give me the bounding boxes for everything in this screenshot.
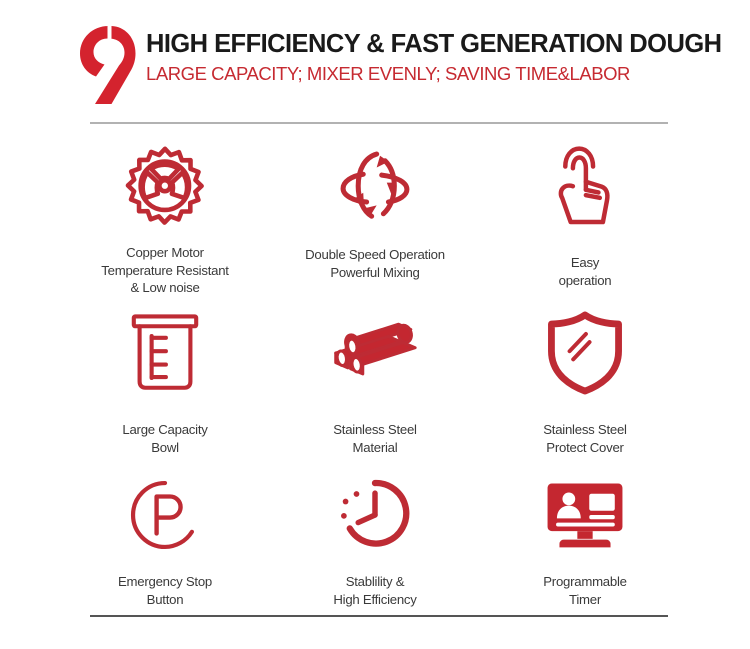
- feature-caption: Copper Motor Temperature Resistant & Low…: [101, 244, 228, 297]
- steel-tubes-icon: [327, 309, 423, 397]
- feature-caption: Stablility & High Efficiency: [333, 573, 416, 608]
- divider-bottom: [90, 615, 668, 617]
- feature-item-stability-efficiency: Stablility & High Efficiency: [270, 468, 480, 608]
- feature-item-emergency-stop: Emergency Stop Button: [60, 468, 270, 608]
- feature-caption: Programmable Timer: [543, 573, 627, 608]
- feature-caption: Easy operation: [559, 254, 612, 289]
- emergency-stop-p-icon: [128, 474, 202, 555]
- feature-item-large-capacity-bowl: Large Capacity Bowl: [60, 303, 270, 468]
- feature-item-protect-cover: Stainless Steel Protect Cover: [480, 303, 690, 468]
- page-subtitle: LARGE CAPACITY; MIXER EVENLY; SAVING TIM…: [146, 61, 721, 87]
- brand-logo-mark: [78, 24, 136, 106]
- feature-item-easy-operation: Easy operation: [480, 138, 690, 303]
- dual-rotation-arrows-icon: [333, 144, 417, 228]
- gear-icon: [121, 144, 209, 232]
- feature-caption: Stainless Steel Material: [333, 421, 416, 456]
- page-title: HIGH EFFICIENCY & FAST GENERATION DOUGH: [146, 28, 721, 60]
- monitor-user-icon: [545, 474, 625, 555]
- hand-tap-icon: [548, 144, 622, 232]
- feature-caption: Stainless Steel Protect Cover: [543, 421, 626, 456]
- feature-grid: Copper Motor Temperature Resistant & Low…: [60, 138, 690, 608]
- feature-caption: Large Capacity Bowl: [122, 421, 207, 456]
- feature-item-programmable-timer: Programmable Timer: [480, 468, 690, 608]
- divider-top: [90, 122, 668, 124]
- clock-icon: [336, 474, 414, 555]
- feature-item-double-speed: Double Speed Operation Powerful Mixing: [270, 138, 480, 303]
- header-text-block: HIGH EFFICIENCY & FAST GENERATION DOUGH …: [136, 22, 721, 87]
- feature-caption: Emergency Stop Button: [118, 573, 212, 608]
- feature-caption: Double Speed Operation Powerful Mixing: [305, 246, 445, 281]
- measuring-bowl-icon: [129, 309, 201, 397]
- feature-item-copper-motor: Copper Motor Temperature Resistant & Low…: [60, 138, 270, 303]
- shield-icon: [546, 309, 624, 397]
- feature-highlights-banner: HIGH EFFICIENCY & FAST GENERATION DOUGH …: [0, 0, 750, 649]
- feature-item-stainless-steel-material: Stainless Steel Material: [270, 303, 480, 468]
- header: HIGH EFFICIENCY & FAST GENERATION DOUGH …: [78, 22, 690, 104]
